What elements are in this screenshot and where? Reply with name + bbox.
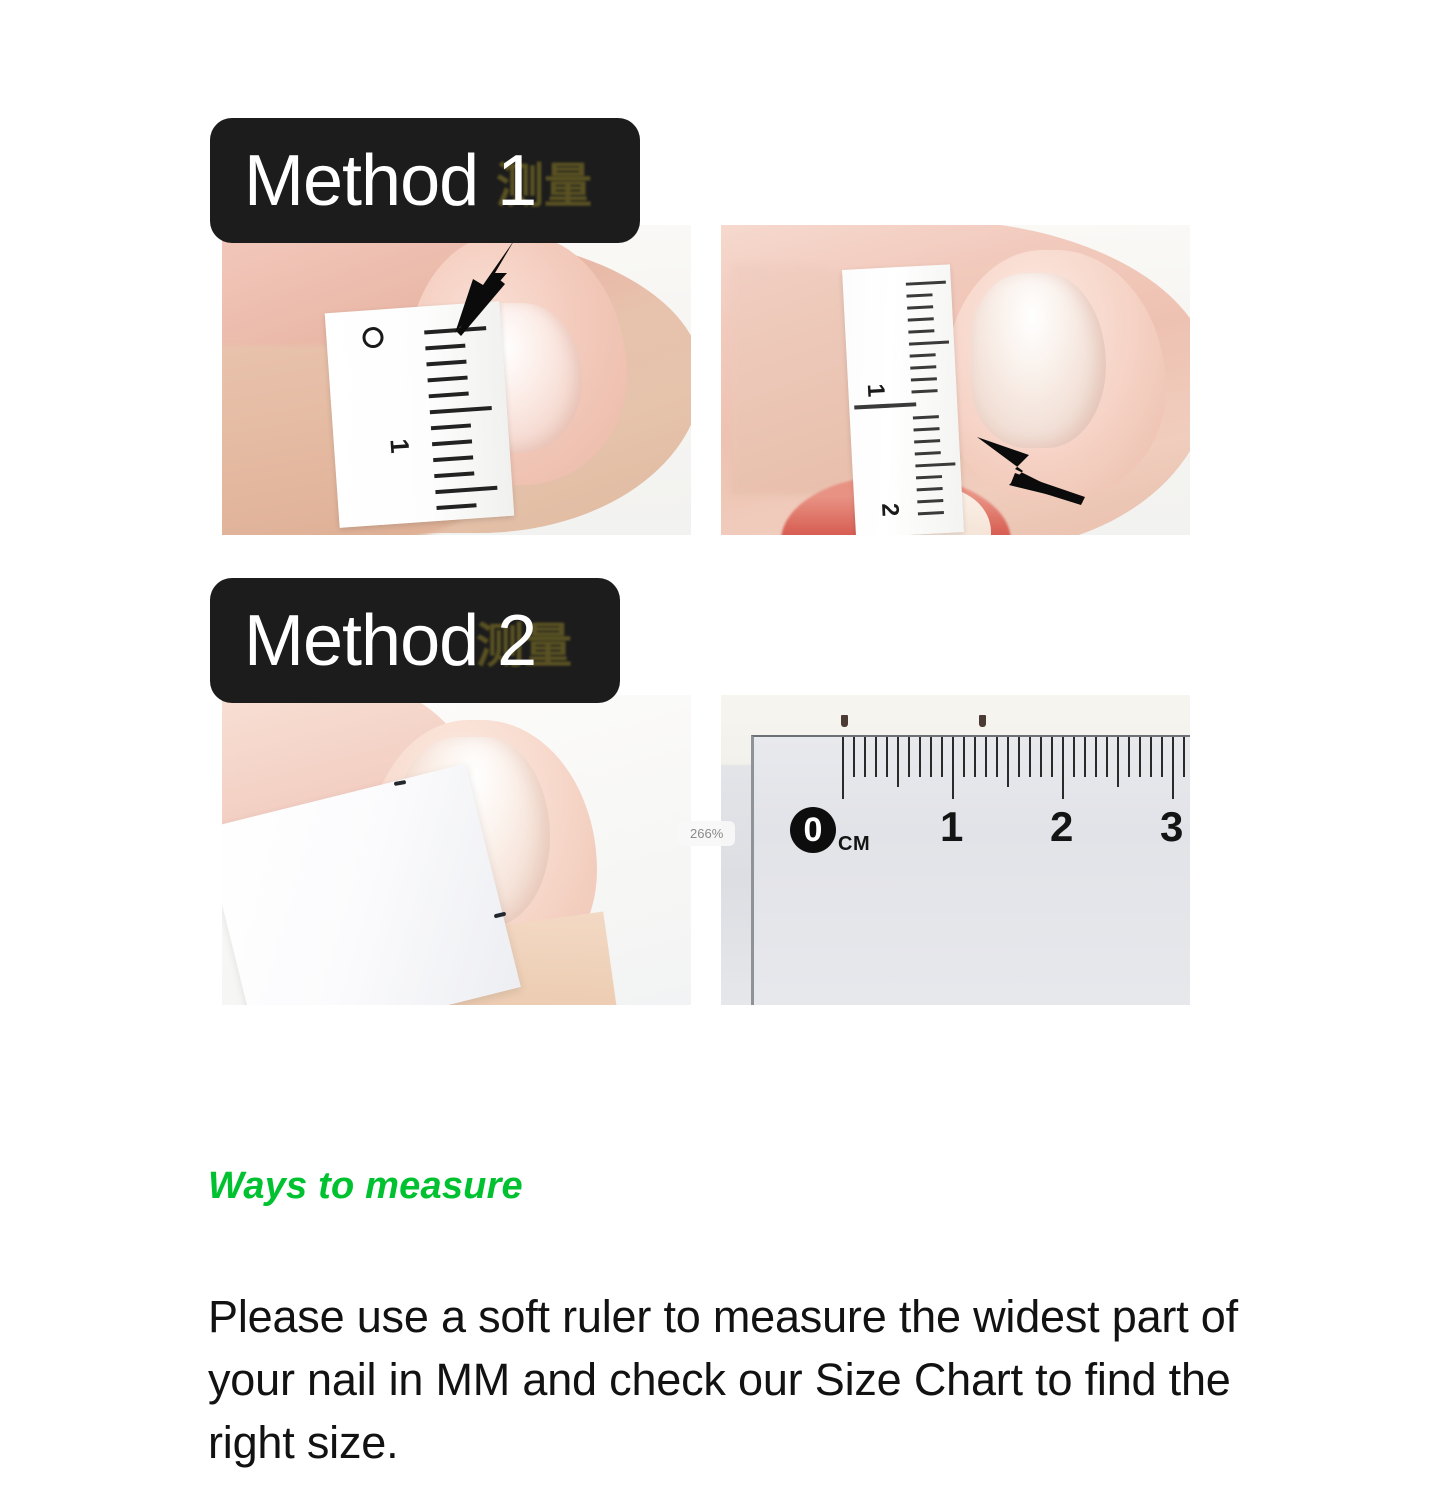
section-heading: Ways to measure bbox=[208, 1165, 523, 1208]
method-1-photo-row: 1 bbox=[222, 225, 1190, 535]
centimetre-ruler: 0 CM 1 2 3 bbox=[751, 735, 1190, 1005]
ruler-tick-label-2: 2 bbox=[1050, 803, 1073, 851]
ruler-unit-label: CM bbox=[838, 833, 870, 856]
measuring-tape: 1 2 bbox=[842, 264, 964, 535]
pen-mark-left bbox=[841, 715, 848, 727]
ruler-tick-label-1: 1 bbox=[940, 803, 963, 851]
up-left-arrow-icon bbox=[971, 425, 1091, 515]
tape-number-1: 1 bbox=[383, 438, 415, 455]
method-2-photo-row: 0 CM 1 2 3 bbox=[222, 695, 1190, 1005]
tape-number-1: 1 bbox=[861, 383, 890, 398]
zoom-level-indicator: 266% bbox=[678, 821, 735, 846]
tape-zero-mark bbox=[362, 326, 384, 348]
method-1-badge: 测量 Method 1 bbox=[210, 118, 640, 243]
tape-number-2: 2 bbox=[875, 502, 904, 517]
method-2-photo-left bbox=[222, 695, 691, 1005]
instruction-paragraph: Please use a soft ruler to measure the w… bbox=[208, 1285, 1243, 1474]
ruler-zero-label: 0 bbox=[790, 807, 836, 853]
method-2-label: Method 2 bbox=[244, 600, 536, 682]
down-left-arrow-icon bbox=[437, 233, 527, 343]
pen-mark-right bbox=[979, 715, 986, 727]
method-2-badge: 测量 Method 2 bbox=[210, 578, 620, 703]
fingernail-shape bbox=[971, 273, 1106, 448]
ruler-tick-label-3: 3 bbox=[1160, 803, 1183, 851]
method-2-photo-right: 0 CM 1 2 3 bbox=[721, 695, 1190, 1005]
method-1-label: Method 1 bbox=[244, 140, 536, 222]
method-1-photo-right: 1 2 bbox=[721, 225, 1190, 535]
method-1-photo-left: 1 bbox=[222, 225, 691, 535]
